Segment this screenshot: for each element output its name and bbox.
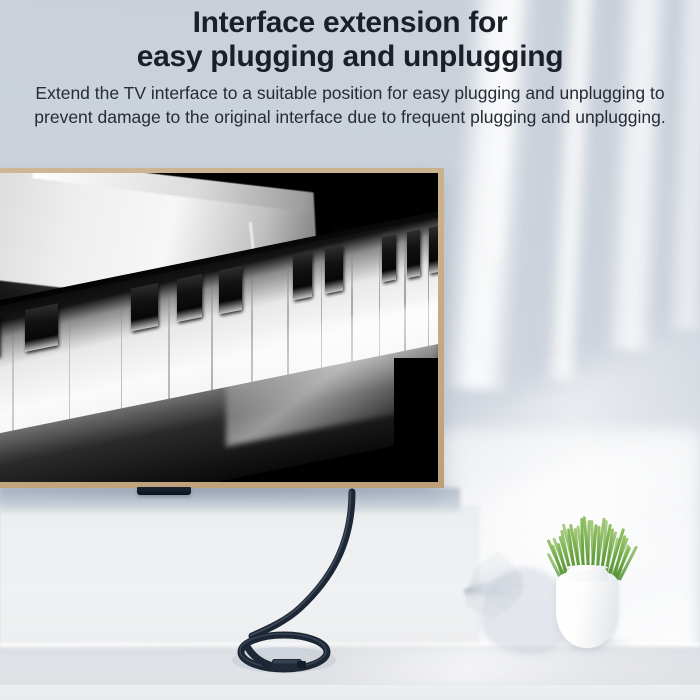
piano-image [0,173,438,482]
page-title-line-2: easy plugging and unplugging [0,40,700,74]
product-promo-scene: Interface extension for easy plugging an… [0,0,700,700]
piano-black-key [429,225,438,273]
page-title: Interface extension for easy plugging an… [0,6,700,73]
piano-black-key [25,303,57,352]
piano-black-key [382,234,396,282]
piano-shadow-right-lower [394,358,438,482]
tv-screen [0,173,438,482]
piano-black-key [293,251,312,299]
piano-black-key [177,274,202,323]
piano-black-key [130,283,157,332]
television [0,168,444,488]
piano-black-key [325,245,342,293]
table-front-face [0,685,700,700]
header: Interface extension for easy plugging an… [0,6,700,130]
vase [556,570,618,648]
piano-black-key [406,229,419,277]
vase-rim [566,565,608,570]
wall-lower-panel [0,505,480,650]
page-title-line-1: Interface extension for [0,6,700,40]
tv-hdmi-port [137,487,191,495]
page-subtitle: Extend the TV interface to a suitable po… [0,82,700,130]
piano-black-key [219,265,242,314]
